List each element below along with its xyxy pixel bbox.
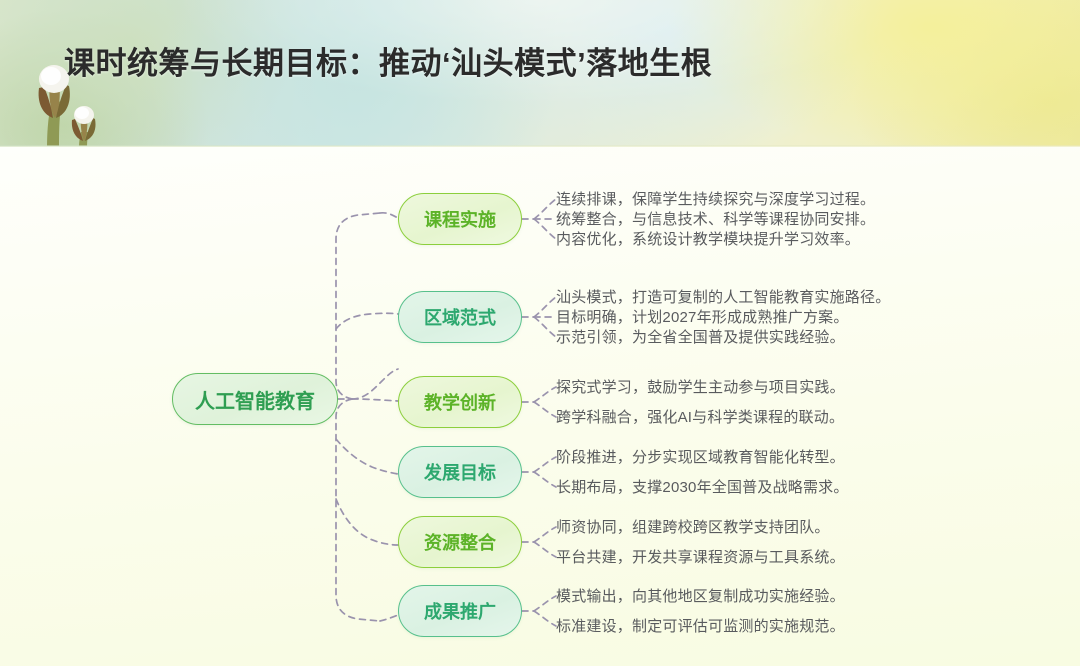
mindmap-branch-node-3[interactable]: 教学创新	[398, 376, 522, 428]
mindmap-leaf-4-2: 长期布局，支撑2030年全国普及战略需求。	[556, 480, 849, 495]
mindmap-leaf-1-1: 连续排课，保障学生持续探究与深度学习过程。	[556, 192, 875, 207]
mindmap-leaf-1-2: 统筹整合，与信息技术、科学等课程协同安排。	[556, 212, 875, 227]
mindmap-leaf-5-1: 师资协同，组建跨校跨区教学支持团队。	[556, 520, 830, 535]
mindmap-branch-node-5[interactable]: 资源整合	[398, 516, 522, 568]
mindmap-leaf-5-2: 平台共建，开发共享课程资源与工具系统。	[556, 550, 845, 565]
mindmap-root-node[interactable]: 人工智能教育	[172, 373, 338, 425]
mindmap-leaf-6-2: 标准建设，制定可评估可监测的实施规范。	[556, 619, 845, 634]
mindmap-branch-node-1[interactable]: 课程实施	[398, 193, 522, 245]
mindmap-canvas: 人工智能教育 课程实施 连续排课，保障学生持续探究与深度学习过程。 统筹整合，与…	[0, 147, 1080, 666]
mindmap-leaf-2-3: 示范引领，为全省全国普及提供实践经验。	[556, 330, 845, 345]
mindmap-branch-node-2[interactable]: 区域范式	[398, 291, 522, 343]
mindmap-leaf-6-1: 模式输出，向其他地区复制成功实施经验。	[556, 589, 845, 604]
mindmap-leaf-4-1: 阶段推进，分步实现区域教育智能化转型。	[556, 450, 845, 465]
mindmap-leaf-2-1: 汕头模式，打造可复制的人工智能教育实施路径。	[556, 290, 890, 305]
mindmap-leaf-3-2: 跨学科融合，强化AI与科学类课程的联动。	[556, 410, 844, 425]
slide-header: 课时统筹与长期目标：推动‘汕头模式’落地生根	[0, 0, 1080, 146]
mindmap-leaf-3-1: 探究式学习，鼓励学生主动参与项目实践。	[556, 380, 845, 395]
page-title: 课时统筹与长期目标：推动‘汕头模式’落地生根	[64, 38, 712, 83]
mindmap-leaf-1-3: 内容优化，系统设计教学模块提升学习效率。	[556, 232, 860, 247]
mindmap-branch-node-4[interactable]: 发展目标	[398, 446, 522, 498]
slide: 课时统筹与长期目标：推动‘汕头模式’落地生根	[0, 0, 1080, 666]
mindmap-leaf-2-2: 目标明确，计划2027年形成成熟推广方案。	[556, 310, 849, 325]
mindmap-branch-node-6[interactable]: 成果推广	[398, 585, 522, 637]
mindmap-nodes: 人工智能教育 课程实施 连续排课，保障学生持续探究与深度学习过程。 统筹整合，与…	[0, 147, 1080, 666]
